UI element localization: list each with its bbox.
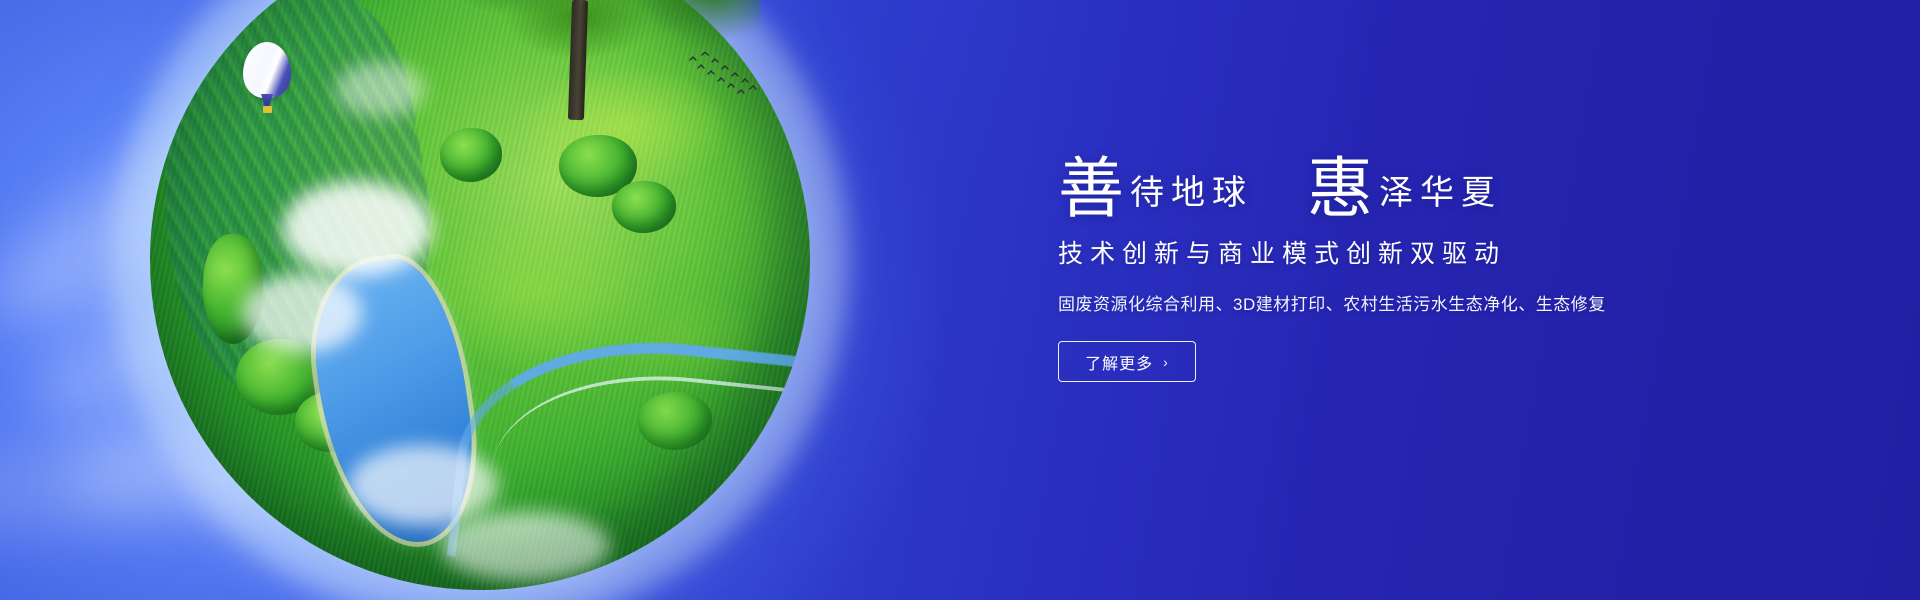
hero-description: 固废资源化综合利用、3D建材打印、农村生活污水生态净化、生态修复 <box>1058 290 1758 315</box>
tree-trunk <box>568 0 588 120</box>
headline-part1-small: 待地球 <box>1124 176 1253 216</box>
learn-more-button[interactable]: 了解更多 › <box>1058 341 1196 382</box>
page-title: 善 待地球 惠 泽华夏 <box>1058 150 1758 216</box>
hot-air-balloon-icon <box>243 42 295 120</box>
hero-banner: 善 待地球 惠 泽华夏 技术创新与商业模式创新双驱动 固废资源化综合利用、3D建… <box>0 0 1920 600</box>
bird-flock-icon <box>688 52 758 96</box>
hero-text-block: 善 待地球 惠 泽华夏 技术创新与商业模式创新双驱动 固废资源化综合利用、3D建… <box>1058 150 1758 382</box>
chevron-right-icon: › <box>1163 354 1169 370</box>
balloon-basket <box>263 106 272 113</box>
balloon-envelope <box>243 42 291 98</box>
learn-more-label: 了解更多 <box>1085 350 1153 374</box>
balloon-neck <box>261 94 273 106</box>
headline-part1-big: 善 <box>1058 156 1124 222</box>
headline-part2-big: 惠 <box>1307 156 1373 222</box>
hero-subtitle: 技术创新与商业模式创新双驱动 <box>1058 234 1758 270</box>
headline-part2-small: 泽华夏 <box>1373 176 1502 216</box>
